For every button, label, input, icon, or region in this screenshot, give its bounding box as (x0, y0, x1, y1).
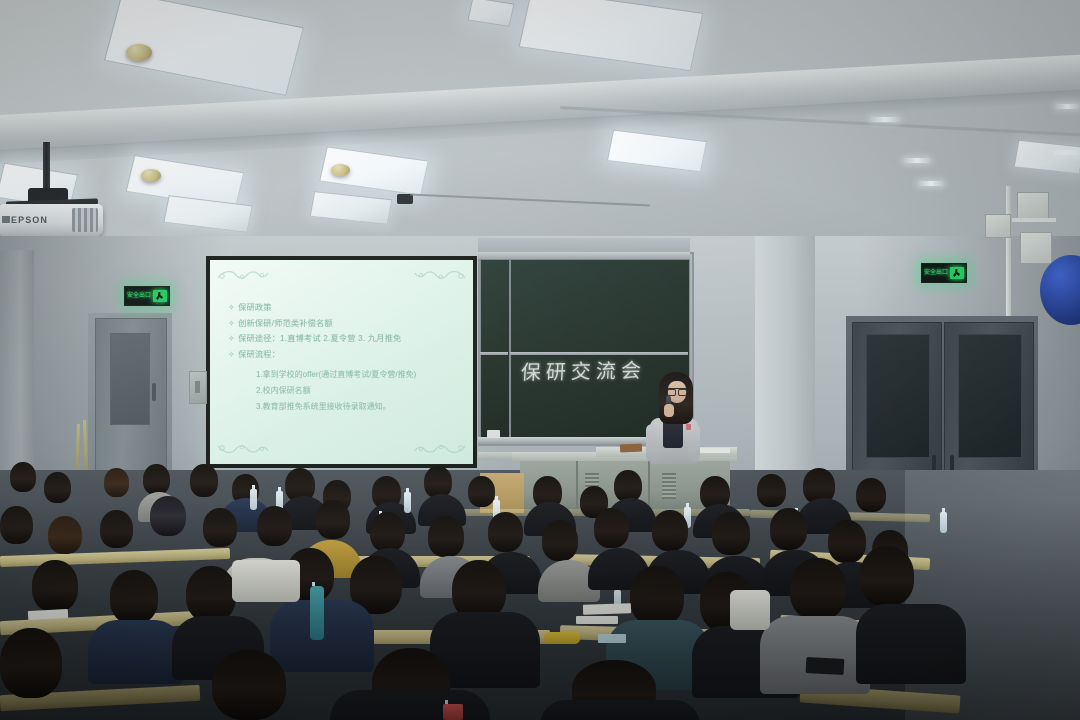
lecture-hall-photo: EPSON (0, 0, 1080, 720)
audience-body-foreground (88, 620, 184, 684)
door-right-window-b (958, 334, 1022, 458)
blackboard-handwriting: 保研交流会 (520, 354, 682, 386)
audience-head (757, 474, 786, 507)
audience-head-foreground (630, 566, 684, 626)
slide-bullet-text: 保研政策 (238, 303, 272, 312)
notebook-on-desk[interactable] (583, 603, 631, 615)
emergency-exit-sign-right: 安全出口 (921, 263, 967, 283)
running-person-icon (950, 267, 964, 279)
water-bottle[interactable] (250, 489, 257, 510)
slide-ornament-icon (413, 441, 467, 457)
wall-utility-box (1017, 192, 1049, 220)
slide-bullet: ✧保研途径：1.直博考试 2.夏令营 3. 九月推免 (228, 331, 463, 347)
ceiling-dome-fixture (141, 169, 161, 182)
slide-bullet: ✧保研流程： (228, 347, 463, 363)
exit-sign-label: 安全出口 (924, 270, 948, 276)
audience-head (828, 520, 866, 563)
slide-bullet-list: ✧保研政策 ✧创新保研/师范类补偿名额 ✧保研途径：1.直博考试 2.夏令营 3… (228, 300, 463, 362)
podium-seam (648, 461, 650, 509)
door-left-window (110, 333, 150, 425)
bullet-marker-icon: ✧ (228, 319, 235, 328)
wall-switch-panel[interactable] (189, 371, 207, 404)
slide-ornament-icon (216, 441, 270, 457)
audience-head (0, 506, 33, 544)
ceiling-downlight (918, 181, 944, 186)
slide-ornament-icon (216, 267, 270, 283)
podium-paper[interactable] (700, 448, 730, 453)
bullet-marker-icon: ✧ (228, 334, 235, 343)
audience-head (856, 478, 886, 512)
projection-screen: ✧保研政策 ✧创新保研/师范类补偿名额 ✧保研途径：1.直博考试 2.夏令营 3… (206, 256, 477, 468)
running-person-icon (153, 290, 167, 302)
slide-bullet-text: 保研途径：1.直博考试 2.夏令营 3. 九月推免 (238, 334, 401, 343)
audience-head (488, 512, 523, 552)
wall-pillar (755, 236, 815, 476)
slide-step: 3.教育部推免系统里接收待录取通知。 (256, 399, 416, 415)
door-right-window-a (866, 334, 930, 458)
audience-head (652, 510, 688, 551)
audience-head (594, 508, 629, 548)
audience-body-foreground (856, 604, 966, 684)
audience-head-foreground (186, 566, 236, 622)
audience-head (104, 468, 129, 497)
audience-head (424, 466, 452, 498)
ceiling-downlight (1055, 104, 1080, 109)
podium-vent (662, 473, 676, 499)
audience-head-foreground (0, 628, 62, 698)
ceiling-downlight (870, 117, 900, 122)
audience-head (428, 516, 464, 557)
audience-body-foreground (540, 700, 700, 720)
presentation-slide: ✧保研政策 ✧创新保研/师范类补偿名额 ✧保研途径：1.直博考试 2.夏令营 3… (210, 260, 473, 464)
wall-shelf (1012, 218, 1056, 222)
speaker-hand (664, 404, 674, 417)
bullet-marker-icon: ✧ (228, 350, 235, 359)
pencil-case[interactable] (544, 632, 580, 644)
audience-head (257, 506, 292, 546)
blackboard-top-rail (478, 252, 690, 259)
audience-head-foreground (32, 560, 78, 612)
slide-step-list: 1.拿到学校的offer(通过直博考试/夏令营/推免) 2.校内保研名额 3.教… (256, 367, 416, 415)
audience-head (190, 464, 218, 497)
white-bag[interactable] (232, 560, 300, 602)
audience-head-foreground (452, 560, 506, 620)
slide-bullet-text: 保研流程： (238, 350, 280, 359)
soda-can[interactable] (443, 704, 463, 720)
ceiling-dome-fixture (126, 44, 152, 61)
audience-head (770, 508, 807, 550)
slide-bullet: ✧保研政策 (228, 300, 463, 316)
audience-head (48, 516, 82, 554)
speaker-badge (686, 424, 691, 430)
water-bottle[interactable] (940, 512, 947, 533)
podium-notebook[interactable] (620, 444, 642, 453)
podium-seam (576, 461, 578, 509)
audience-head (203, 508, 237, 547)
wall-utility-box (985, 214, 1011, 238)
slide-step: 2.校内保研名额 (256, 383, 416, 399)
blackboard-eraser[interactable] (487, 430, 500, 438)
wall-conduit-pipe (1006, 186, 1011, 336)
projector-brand-label: EPSON (11, 215, 48, 225)
audience-head (150, 496, 186, 536)
slide-ornament-icon (413, 267, 467, 283)
audience-body-foreground (330, 690, 490, 720)
speaker-arm-left (646, 424, 658, 462)
audience-head (542, 520, 578, 561)
audience-head (468, 476, 495, 507)
projector-badge (2, 216, 10, 223)
glasses-icon (667, 388, 687, 394)
audience-head (143, 464, 170, 495)
wall-strip-above-board (478, 238, 690, 253)
slide-bullet-text: 创新保研/师范类补偿名额 (238, 319, 333, 328)
ceiling-dome-fixture (331, 164, 350, 176)
audience-head-foreground (212, 650, 286, 720)
slide-bullet: ✧创新保研/师范类补偿名额 (228, 316, 463, 332)
audience-head (10, 462, 36, 492)
blackboard-side-panel (480, 259, 510, 439)
projector-lens (72, 208, 98, 232)
ceiling-downlight (903, 158, 931, 163)
audience-head-foreground (790, 558, 846, 620)
notebook-on-desk[interactable] (576, 616, 618, 624)
audience-head-foreground (110, 570, 158, 624)
slide-step: 1.拿到学校的offer(通过直博考试/夏令营/推免) (256, 367, 416, 383)
water-bottle[interactable] (404, 492, 411, 513)
bullet-marker-icon: ✧ (228, 303, 235, 312)
audience-head-foreground (860, 546, 914, 606)
projection-screen-surface: ✧保研政策 ✧创新保研/师范类补偿名额 ✧保研途径：1.直博考试 2.夏令营 3… (210, 260, 473, 464)
audience-head (370, 512, 405, 552)
phone-on-desk[interactable] (806, 657, 845, 675)
projector-mount-rod (43, 142, 50, 194)
audience-body-foreground (760, 616, 870, 694)
blackboard-divider-rail (480, 352, 508, 355)
emergency-exit-sign-left: 安全出口 (124, 286, 170, 306)
audience-head (44, 472, 71, 503)
ceiling-downlight (1053, 150, 1078, 155)
audience-head (712, 512, 750, 555)
audience-head (316, 500, 350, 539)
paper-on-desk[interactable] (598, 634, 626, 643)
door-left-handle[interactable] (152, 383, 156, 401)
exit-sign-label: 安全出口 (127, 293, 151, 299)
water-bottle[interactable] (310, 586, 324, 640)
audience-head (100, 510, 133, 548)
wall-control-panel[interactable] (1020, 232, 1052, 264)
white-bag[interactable] (730, 590, 770, 630)
